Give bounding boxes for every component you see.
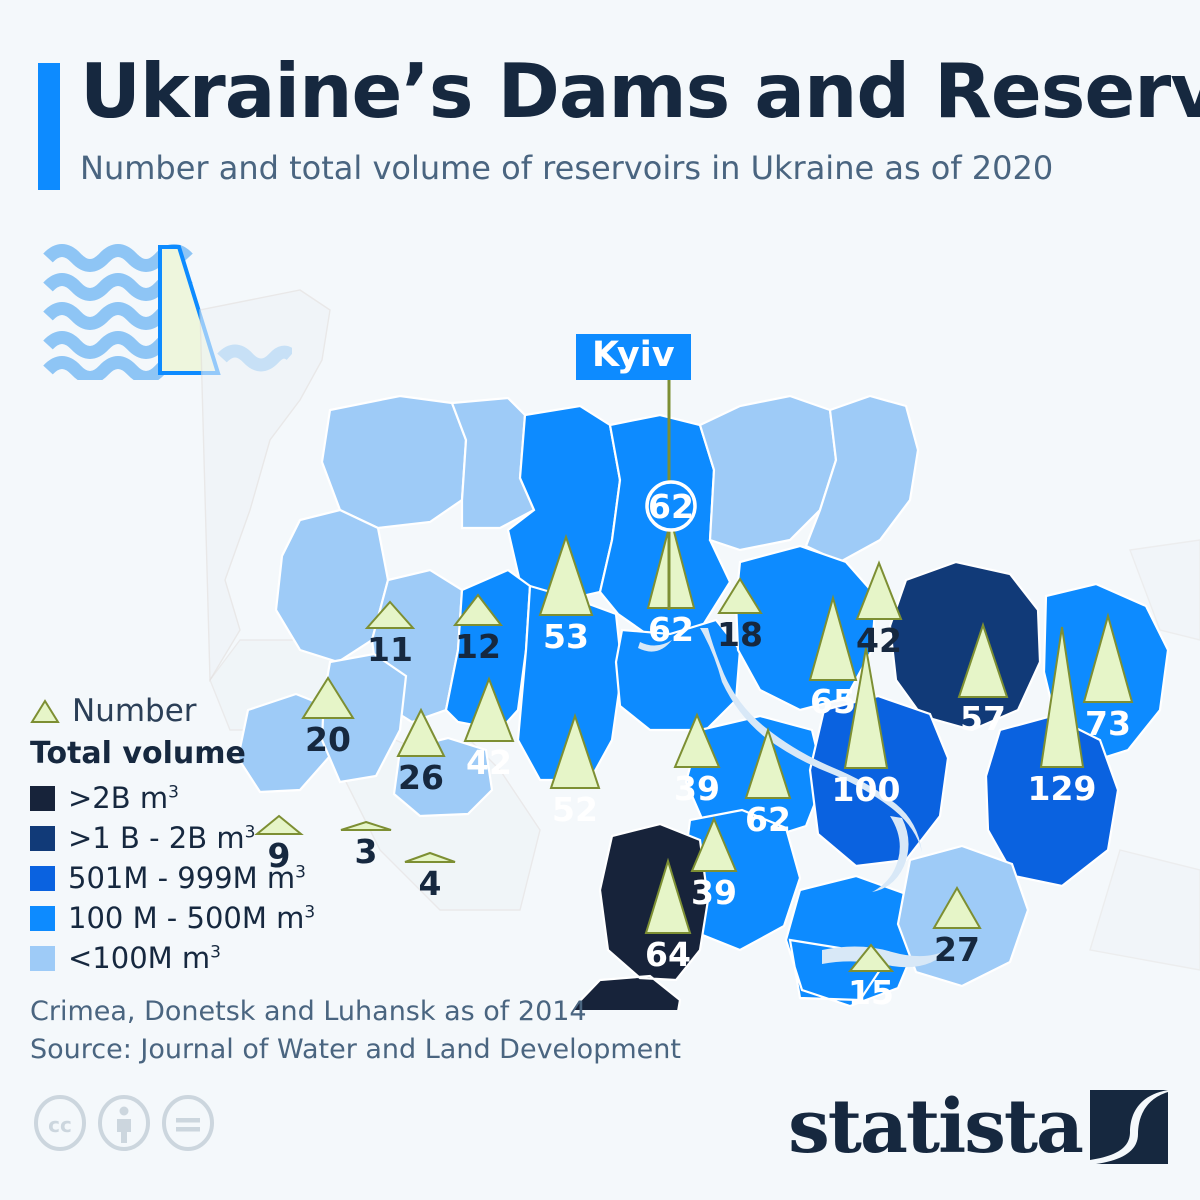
legend-swatch [30, 826, 55, 851]
legend-volume-title: Total volume [30, 736, 360, 771]
legend-number-label: Number [72, 693, 197, 729]
region-value: 15 [848, 973, 894, 1010]
by-person-icon[interactable] [96, 1095, 152, 1151]
region-value: 39 [691, 873, 737, 912]
legend: Number Total volume >2B m3>1 B - 2B m350… [30, 690, 360, 978]
capital-value: 62 [648, 487, 694, 526]
footnote-coverage: Crimea, Donetsk and Luhansk as of 2014 [30, 993, 681, 1031]
page-subtitle: Number and total volume of reservoirs in… [80, 149, 1053, 187]
region-value: 65 [810, 682, 856, 721]
legend-swatch [30, 866, 55, 891]
legend-swatch [30, 786, 55, 811]
region-value: 129 [1028, 769, 1097, 808]
statista-mark-icon [1090, 1090, 1168, 1164]
region-volyn[interactable] [322, 396, 466, 528]
region-marker-sumy: 42 [856, 563, 902, 660]
creative-commons-icons: cc [32, 1095, 216, 1151]
accent-bar [38, 63, 60, 190]
legend-items: >2B m3>1 B - 2B m3501M - 999M m3100 M - … [30, 778, 360, 978]
legend-row-3[interactable]: 100 M - 500M m3 [30, 898, 360, 938]
statista-wordmark: statista [788, 1090, 1082, 1164]
legend-swatch [30, 906, 55, 931]
legend-label: 501M - 999M m3 [68, 861, 306, 895]
legend-number-row: Number [30, 690, 360, 732]
header: Ukraine’s Dams and Reservoirs Number and… [0, 0, 1200, 215]
region-value: 27 [934, 930, 980, 969]
region-value: 11 [367, 630, 413, 669]
legend-row-4[interactable]: <100M m3 [30, 938, 360, 978]
legend-row-1[interactable]: >1 B - 2B m3 [30, 818, 360, 858]
region-value: 62 [745, 800, 791, 839]
page-title: Ukraine’s Dams and Reservoirs [80, 47, 1200, 135]
region-value: 4 [419, 864, 442, 903]
region-value: 57 [960, 699, 1006, 738]
region-value: 39 [674, 769, 720, 808]
legend-label: >1 B - 2B m3 [68, 821, 255, 855]
region-value: 100 [832, 770, 901, 809]
legend-row-0[interactable]: >2B m3 [30, 778, 360, 818]
footer: cc statista [0, 1090, 1200, 1200]
region-value: 12 [455, 627, 501, 666]
capital-label[interactable]: Kyiv [576, 334, 691, 380]
cc-icon[interactable]: cc [32, 1095, 88, 1151]
legend-swatch [30, 946, 55, 971]
region-value: 62 [648, 610, 694, 649]
footnotes: Crimea, Donetsk and Luhansk as of 2014 S… [30, 993, 681, 1070]
legend-label: 100 M - 500M m3 [68, 901, 315, 935]
region-value: 73 [1085, 704, 1131, 743]
region-value: 26 [398, 758, 444, 797]
legend-row-2[interactable]: 501M - 999M m3 [30, 858, 360, 898]
triangle-marker-icon [30, 698, 60, 724]
legend-label: >2B m3 [68, 781, 179, 815]
region-value: 53 [543, 617, 589, 656]
svg-text:cc: cc [48, 1113, 72, 1137]
nd-equals-icon[interactable] [160, 1095, 216, 1151]
region-marker-ternopil: 26 [398, 710, 444, 797]
footnote-source: Source: Journal of Water and Land Develo… [30, 1031, 681, 1069]
region-value: 64 [645, 935, 691, 974]
statista-logo: statista [788, 1090, 1168, 1164]
region-value: 18 [717, 615, 763, 654]
region-value: 42 [856, 621, 902, 660]
region-value: 52 [552, 790, 598, 829]
legend-label: <100M m3 [68, 941, 221, 975]
region-value: 42 [466, 743, 512, 782]
